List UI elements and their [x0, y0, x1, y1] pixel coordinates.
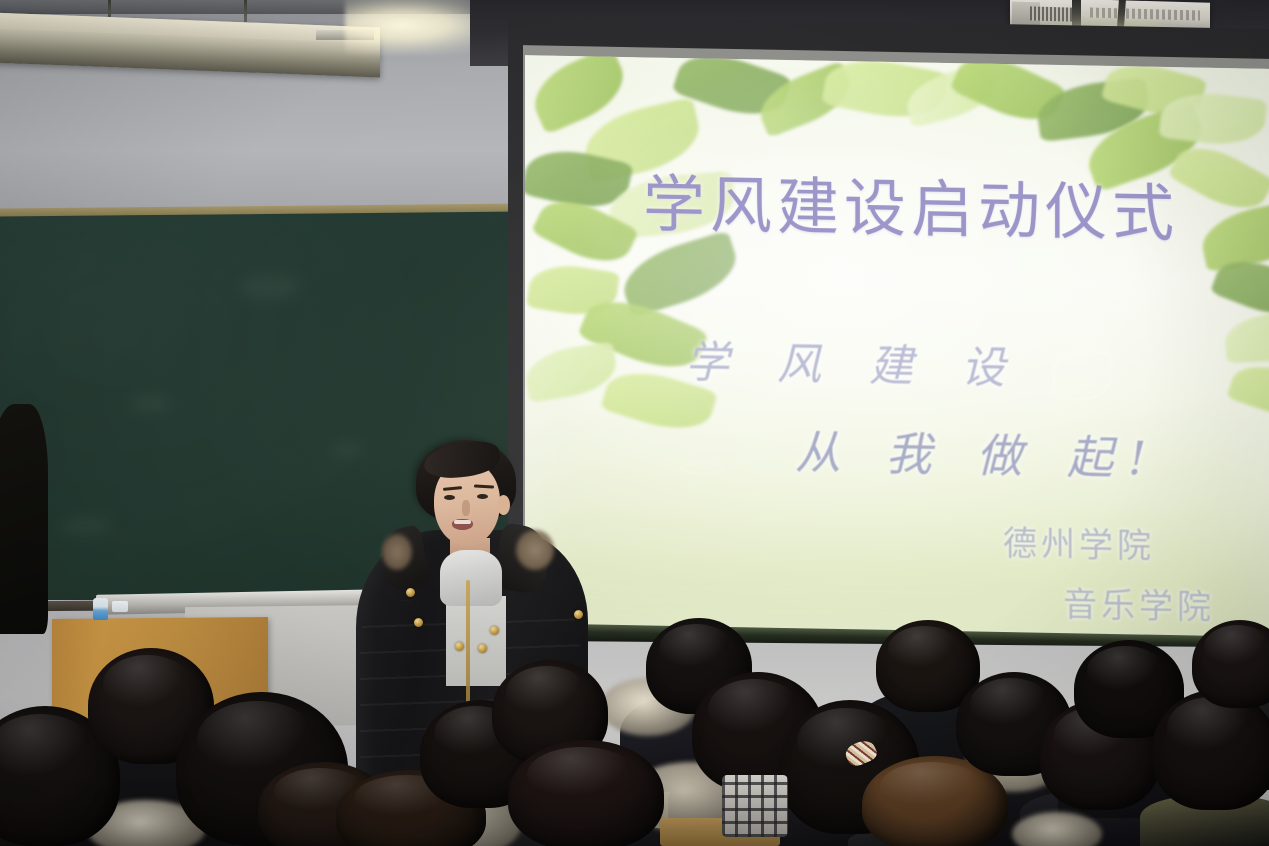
leaf-shape-23 — [1226, 356, 1269, 426]
audience-head-sheen-12 — [880, 762, 982, 810]
speaker-teeth — [454, 520, 471, 524]
screen-scuff-mark — [1053, 351, 1111, 400]
slide-body-line-2: 从 我 做 起! — [795, 416, 1161, 489]
audience-head-sheen-7 — [527, 747, 636, 802]
leaf-shape-22 — [1223, 310, 1269, 363]
speaker-eye-right — [477, 494, 488, 499]
projector-vent-icon — [1030, 6, 1072, 21]
speaker-coat-button-1 — [406, 588, 415, 597]
standing-person-silhouette — [0, 404, 48, 634]
audience-head-sheen-11 — [888, 626, 961, 672]
audience-head-sheen-6 — [506, 666, 587, 718]
audience-head-sheen-1 — [103, 655, 191, 713]
speaker-turtleneck — [440, 550, 502, 606]
speaker-coat-button-4 — [478, 644, 487, 653]
speaker-nose — [462, 500, 470, 516]
speaker-fur-trim-right — [516, 530, 554, 570]
audience-head-sheen-8 — [659, 624, 733, 672]
speaker-fur-trim-left — [382, 534, 412, 570]
cup-on-lectern — [112, 601, 128, 612]
slide-title: 学风建设启动仪式 — [643, 153, 1179, 253]
plaid-scarf — [722, 775, 788, 837]
classroom-photo: 学风建设启动仪式 学 风 建 设 从 我 做 起! 德州学院 音乐学院 — [0, 0, 1269, 846]
audience-head-sheen-10 — [797, 708, 895, 775]
speaker-coat-button-2 — [414, 618, 423, 627]
water-bottle — [93, 598, 108, 620]
speaker-sweater-body — [446, 596, 506, 686]
speaker-eye-left — [444, 495, 455, 500]
projection-screen: 学风建设启动仪式 学 风 建 设 从 我 做 起! 德州学院 音乐学院 — [525, 55, 1269, 641]
audience-head-sheen-17 — [1204, 625, 1269, 669]
speaker-coat-button-3 — [455, 642, 464, 651]
speaker-coat-button-6 — [574, 610, 583, 619]
audience-head-sheen-13 — [970, 678, 1051, 730]
audience-head-sheen-9 — [708, 679, 800, 739]
slide-body-line-1: 学 风 建 设 — [685, 326, 1022, 396]
speaker-ear — [497, 495, 510, 515]
speaker-coat-button-5 — [490, 626, 499, 635]
screen-scuff-mark-2 — [681, 462, 723, 475]
slide-organization-college: 音乐学院 — [1063, 577, 1215, 629]
slide-organization-university: 德州学院 — [1003, 516, 1155, 568]
light-hanger-right — [244, 0, 247, 22]
audience-head-sheen-15 — [1087, 646, 1164, 695]
leaf-shape-20 — [1197, 199, 1269, 273]
